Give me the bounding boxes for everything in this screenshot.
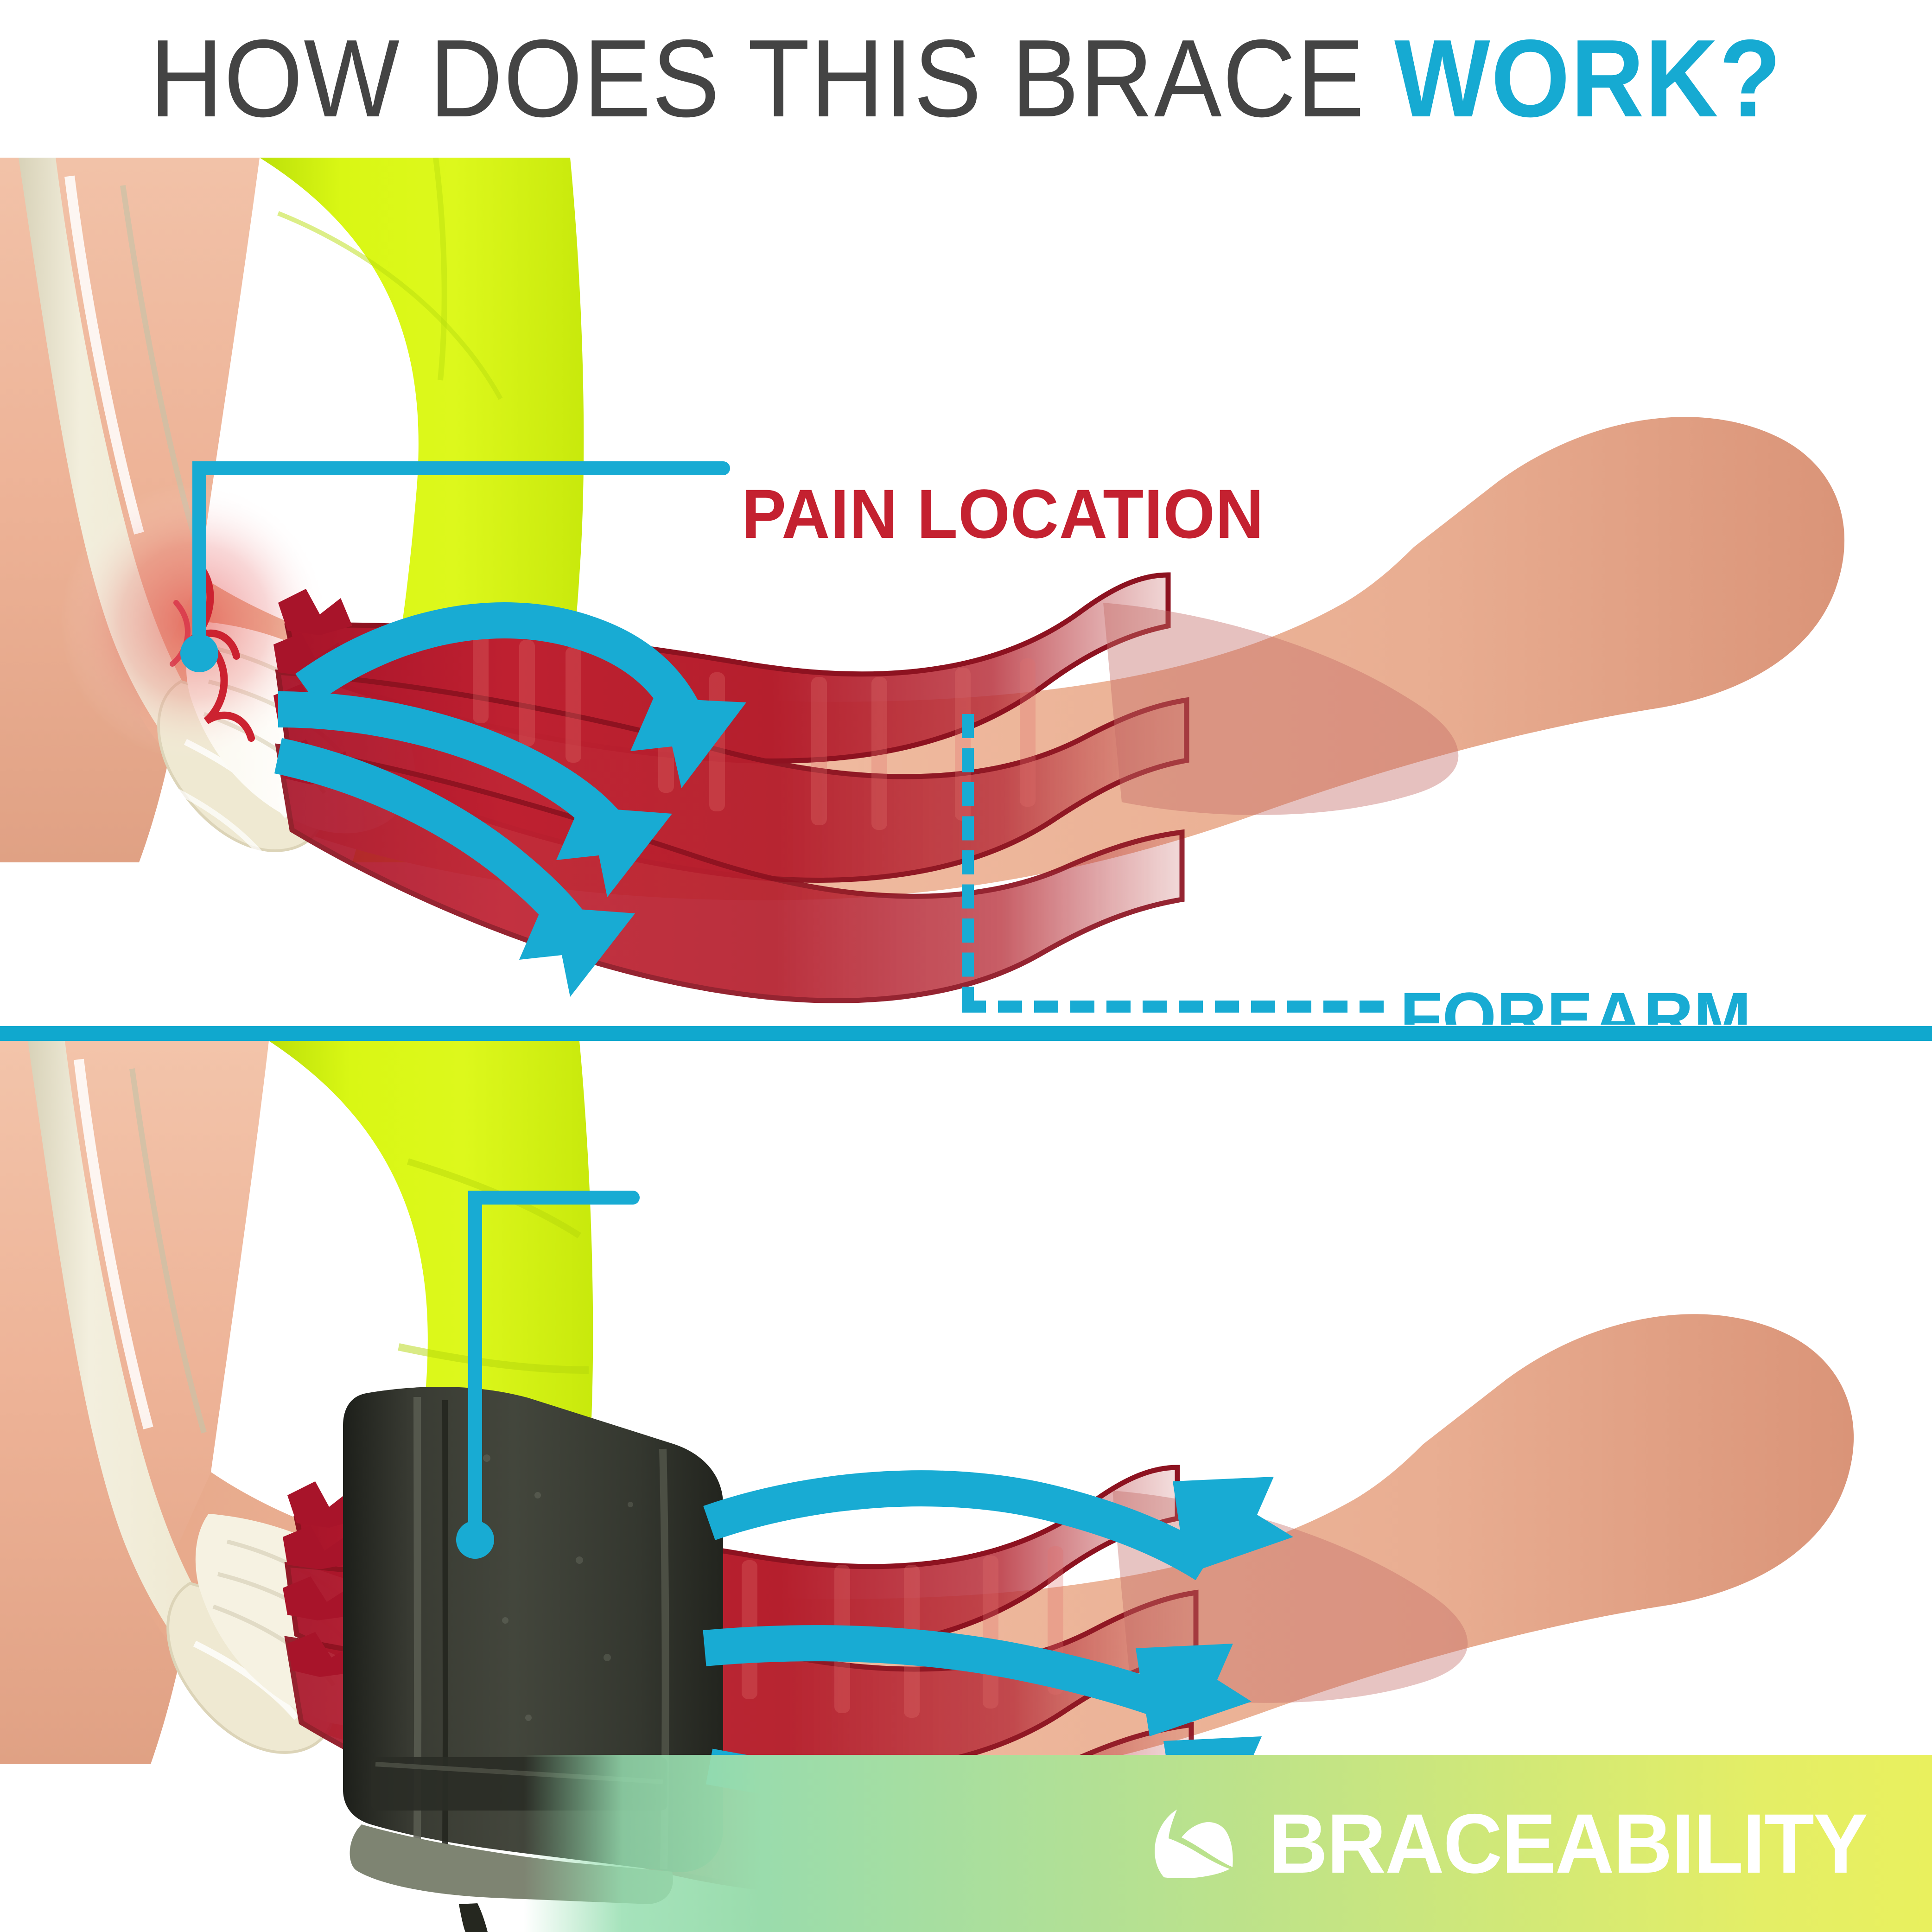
page-title: HOW DOES THIS BRACE WORK?	[150, 24, 1782, 134]
page-title-plain: HOW DOES THIS BRACE	[150, 17, 1394, 140]
infographic-page: HOW DOES THIS BRACE WORK?	[0, 0, 1932, 1932]
forearm-muscles-label: FOREARMMUSCLES	[1400, 981, 1751, 1025]
pain-location-label: PAIN LOCATION	[742, 478, 1264, 550]
footer-brand-bar: BRACEABILITY	[524, 1755, 1932, 1932]
page-title-accent: WORK?	[1394, 17, 1782, 140]
header: HOW DOES THIS BRACE WORK?	[0, 0, 1932, 158]
brand-lockup: BRACEABILITY	[1150, 1801, 1876, 1886]
braceability-wing-mark	[1150, 1809, 1238, 1878]
forearm-muscles-line1: FOREARM	[1400, 978, 1751, 1025]
unbraced-elbow-panel: PAIN LOCATION FOREARMMUSCLES	[0, 158, 1932, 1025]
brand-name: BRACEABILITY	[1269, 1801, 1867, 1886]
